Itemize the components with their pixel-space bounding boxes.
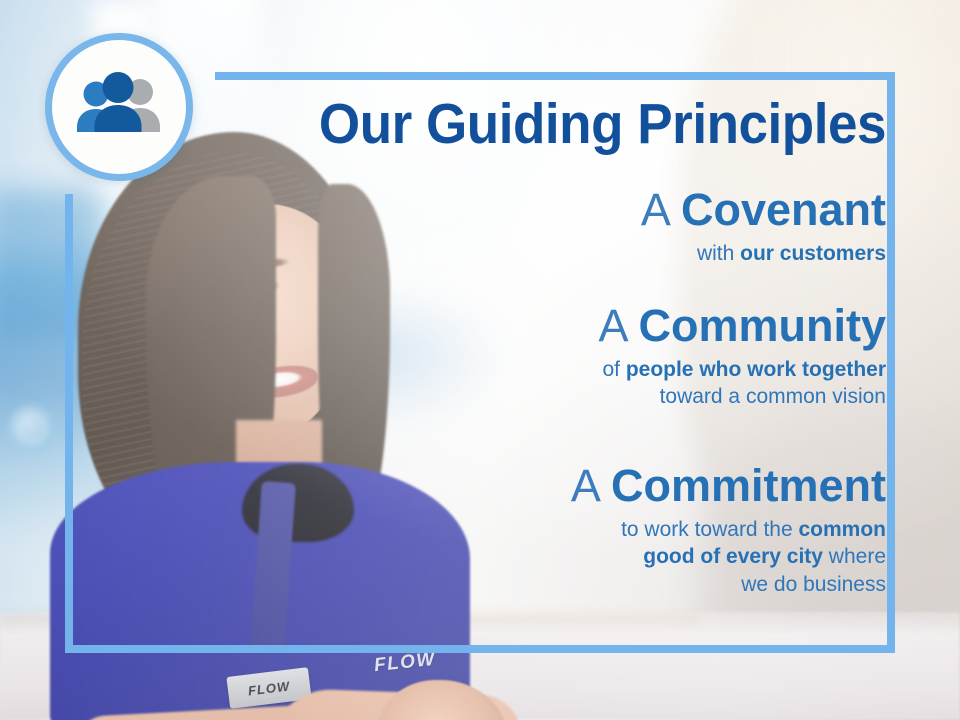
principle-heading: A Commitment	[0, 462, 886, 510]
subtext-plain: we do business	[741, 573, 886, 596]
graphic-overlay: Our Guiding Principles A Covenant with o…	[0, 0, 960, 720]
principle-article: A	[571, 460, 599, 511]
subtext-emphasis: good of every city	[643, 545, 823, 568]
principle-keyword: Covenant	[681, 184, 886, 235]
subtext-emphasis: people who work together	[626, 358, 886, 381]
principle-subtext: to work toward the commongood of every c…	[0, 516, 886, 599]
page-title: Our Guiding Principles	[62, 96, 886, 153]
subtext-plain: of	[602, 358, 625, 381]
principle-commitment: A Commitment to work toward the commongo…	[0, 462, 886, 599]
principle-heading: A Community	[0, 302, 886, 350]
principle-keyword: Community	[639, 300, 887, 351]
principle-subtext-line: toward a common vision	[0, 383, 886, 411]
subtext-plain: to work toward the	[621, 518, 798, 541]
principle-subtext-line: with our customers	[0, 240, 886, 268]
subtext-plain: with	[697, 242, 740, 265]
principle-keyword: Commitment	[611, 460, 886, 511]
principle-community: A Community of people who work togethert…	[0, 302, 886, 411]
principle-subtext-line: to work toward the common	[0, 516, 886, 544]
principle-subtext-line: we do business	[0, 571, 886, 599]
principle-heading: A Covenant	[0, 186, 886, 234]
subtext-plain: toward a common vision	[660, 385, 886, 408]
subtext-emphasis: our customers	[740, 242, 886, 265]
principle-subtext-line: good of every city where	[0, 543, 886, 571]
principle-subtext-line: of people who work together	[0, 356, 886, 384]
principle-article: A	[598, 300, 626, 351]
subtext-plain: where	[823, 545, 886, 568]
principle-subtext: with our customers	[0, 240, 886, 268]
principle-covenant: A Covenant with our customers	[0, 186, 886, 267]
text-block: Our Guiding Principles A Covenant with o…	[0, 0, 960, 720]
principle-subtext: of people who work togethertoward a comm…	[0, 356, 886, 411]
principle-article: A	[641, 184, 669, 235]
banner-canvas: FLOW FLOW	[0, 0, 960, 720]
subtext-emphasis: common	[798, 518, 886, 541]
